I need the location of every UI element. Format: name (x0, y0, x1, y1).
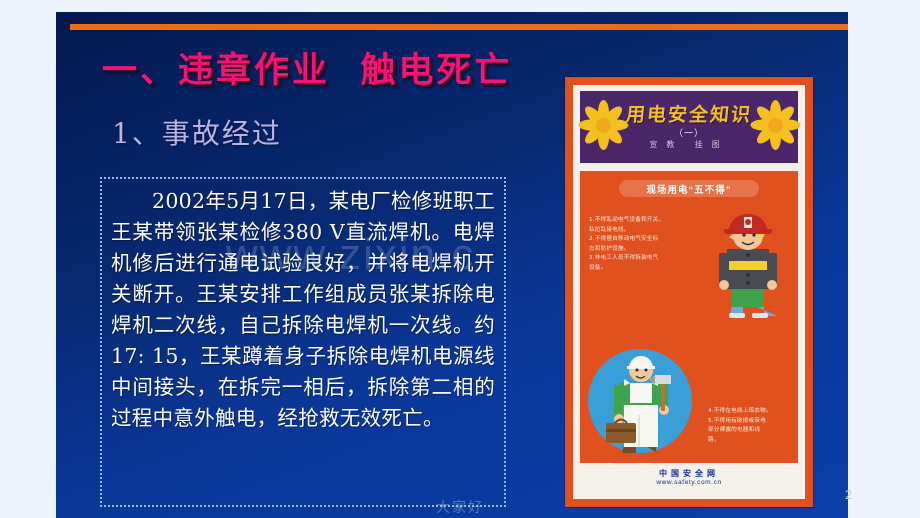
poster-title: 用电安全知识 (625, 106, 753, 125)
poster-footer: 中国安全网 www.safety.com.cn (580, 469, 798, 487)
rule-banner-label: 现场用电“五不得” (619, 180, 759, 197)
poster-title-tag: 宣教 挂图 (626, 141, 752, 149)
poster-footer-url: www.safety.com.cn (580, 479, 798, 486)
poster-inner-panel: 用电安全知识 （一） 宣教 挂图 现场用电“五不得” 1.不得乱动电气设备和开关… (573, 85, 805, 499)
slide-title: 一、违章作业 触电死亡 (102, 42, 512, 93)
orange-accent-rule (70, 24, 848, 30)
flower-right-icon (746, 96, 804, 154)
slide-subtitle: 1、事故经过 (112, 112, 282, 152)
presentation-slide: 一、违章作业 触电死亡 1、事故经过 2002年5月17日，某电厂检修班职工王某… (56, 12, 848, 518)
narrative-text-box: 2002年5月17日，某电厂检修班职工王某带领张某检修380 V直流焊机。电焊机… (100, 177, 506, 507)
slide-page-number: 2 (845, 487, 852, 502)
poster-content-panel: 现场用电“五不得” 1.不得乱动电气设备和开关， 私拉乱接电线。 2.不得擅自移… (580, 171, 798, 463)
safety-poster-image: 用电安全知识 （一） 宣教 挂图 现场用电“五不得” 1.不得乱动电气设备和开关… (565, 77, 813, 507)
poster-title-number: （一） (626, 129, 752, 138)
poster-header-band: 用电安全知识 （一） 宣教 挂图 (580, 91, 798, 163)
poster-rules-list-top: 1.不得乱动电气设备和开关， 私拉乱接电线。 2.不得擅自移动电气安全标 志和防… (589, 216, 679, 273)
flower-left-icon (574, 96, 632, 154)
firefighter-illustration (710, 209, 786, 321)
poster-footer-org: 中国安全网 (580, 469, 798, 478)
accident-description-text: 2002年5月17日，某电厂检修班职工王某带领张某检修380 V直流焊机。电焊机… (111, 186, 495, 434)
poster-rules-list-bottom: 4.不得在电线上晾衣物。 5.不得用有破损或带电 部分裸露的电器和线 路。 (708, 407, 790, 445)
poster-title-group: 用电安全知识 （一） 宣教 挂图 (626, 106, 752, 149)
electrician-illustration (598, 353, 684, 457)
